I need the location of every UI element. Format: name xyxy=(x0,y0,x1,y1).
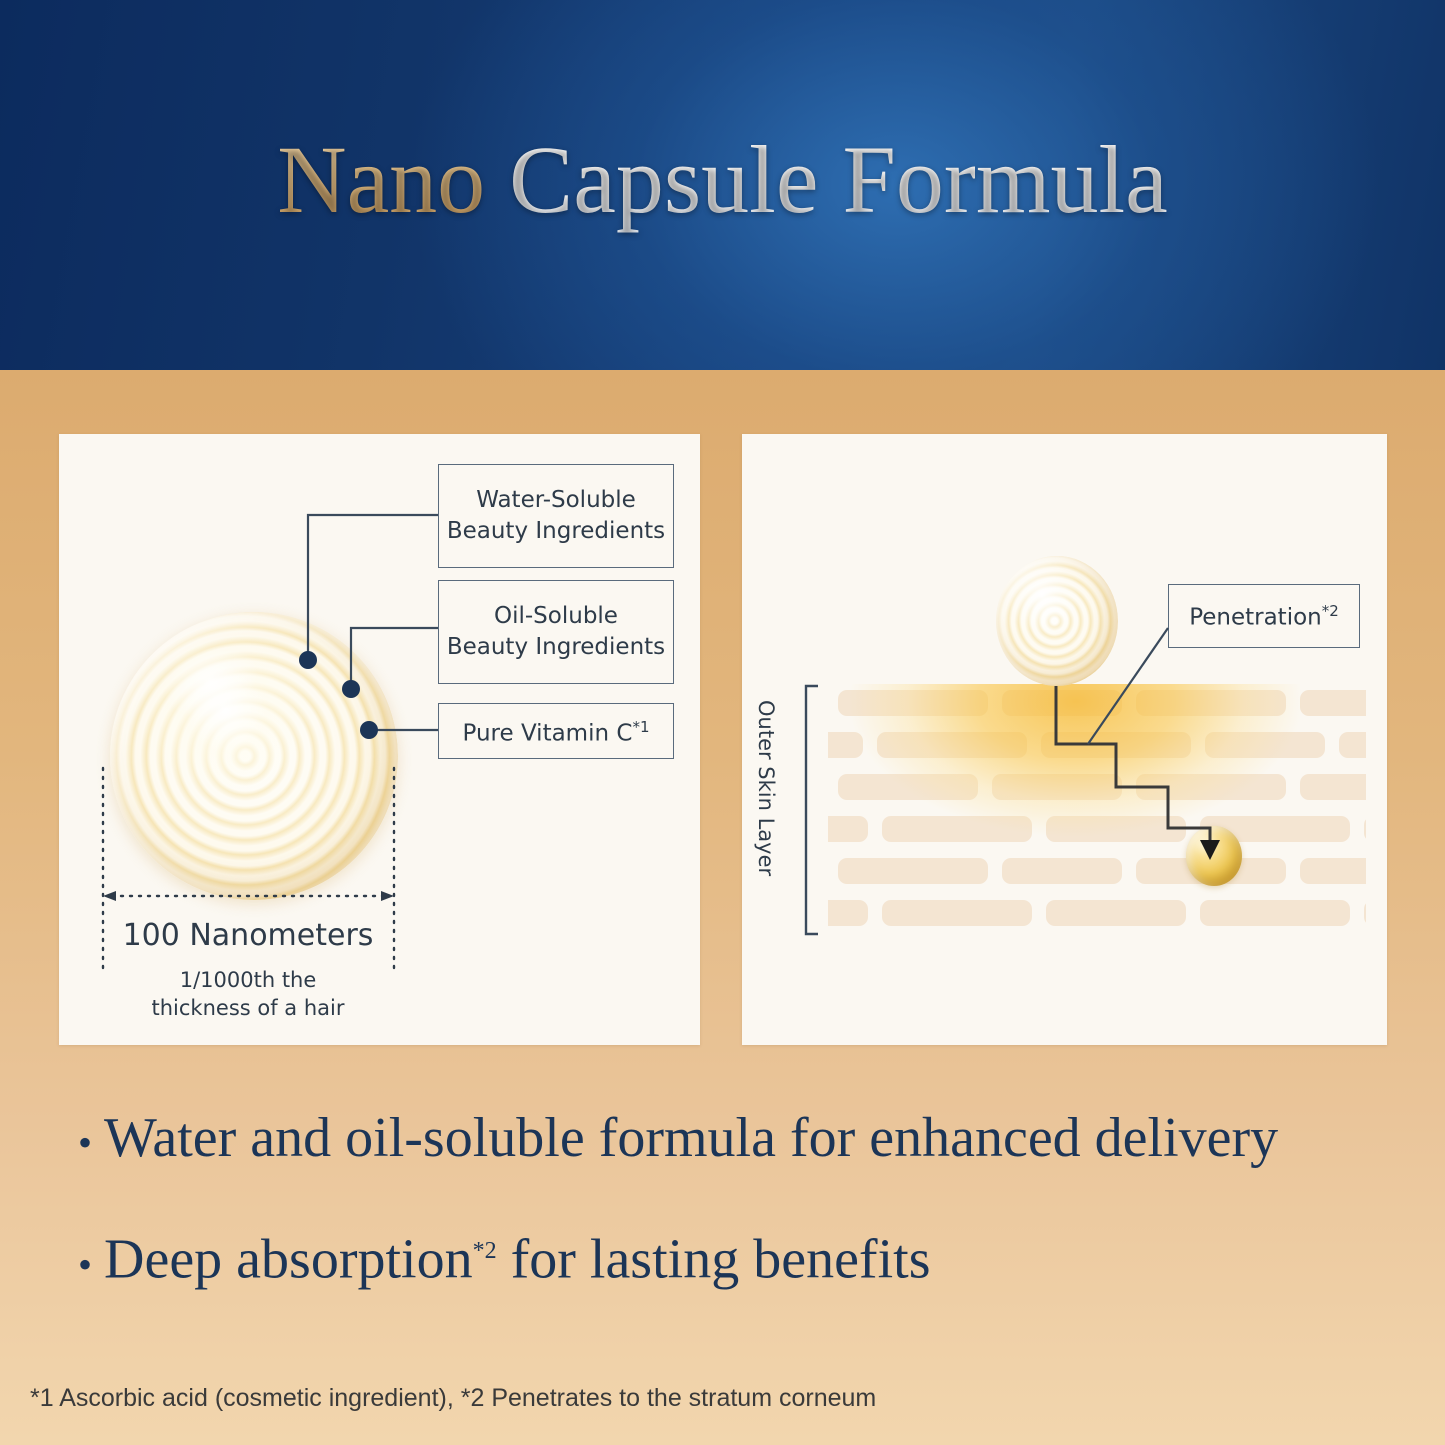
brick xyxy=(838,858,988,884)
brick xyxy=(882,816,1032,842)
brick xyxy=(1046,900,1186,926)
callout-penetration-label: Penetration xyxy=(1189,604,1322,630)
skin-layer-illustration xyxy=(828,684,1366,936)
brick xyxy=(1300,858,1366,884)
brick xyxy=(1200,900,1350,926)
callout-water-soluble: Water-Soluble Beauty Ingredients xyxy=(438,464,674,568)
benefit-item-2-text: Deep absorption xyxy=(104,1229,473,1291)
title-word-nano: Nano xyxy=(277,126,485,233)
callout-water-line1: Water-Soluble xyxy=(476,487,636,513)
brick xyxy=(1364,900,1366,926)
brick xyxy=(1002,858,1122,884)
benefit-item-1: •Water and oil-soluble formula for enhan… xyxy=(78,1105,1408,1176)
absorbed-droplet xyxy=(1186,826,1242,886)
callout-water-line2: Beauty Ingredients xyxy=(447,518,665,544)
brick xyxy=(1300,690,1366,716)
callout-penetration: Penetration*2 xyxy=(1168,584,1360,648)
callout-penetration-footnote-marker: *2 xyxy=(1322,602,1339,620)
capsule-highlight xyxy=(153,632,269,730)
title-word-capsule-formula: Capsule Formula xyxy=(509,126,1168,233)
brick xyxy=(1041,732,1191,758)
title-space xyxy=(485,126,509,233)
callout-vitc-label: Pure Vitamin C xyxy=(463,721,633,747)
measurement-sub-line2: thickness of a hair xyxy=(152,996,345,1020)
brick xyxy=(838,690,988,716)
callout-oil-line1: Oil-Soluble xyxy=(494,603,618,629)
header-banner: Nano Capsule Formula xyxy=(0,0,1445,370)
brick xyxy=(1205,732,1325,758)
nano-capsule-illustration xyxy=(110,612,398,900)
brick xyxy=(877,732,1027,758)
benefit-item-2: •Deep absorption*2 for lasting benefits xyxy=(78,1218,1408,1298)
brick xyxy=(1046,816,1186,842)
benefit-item-2-tail: for lasting benefits xyxy=(497,1229,931,1291)
brick xyxy=(1002,690,1122,716)
brick xyxy=(992,774,1122,800)
benefit-item-2-footnote-marker: *2 xyxy=(473,1238,497,1264)
bullet-dot-icon: • xyxy=(78,1120,104,1165)
brick xyxy=(828,816,868,842)
brick xyxy=(1300,774,1366,800)
outer-skin-layer-label: Outer Skin Layer xyxy=(754,700,778,920)
brick xyxy=(828,732,863,758)
brick xyxy=(1136,690,1286,716)
brick xyxy=(838,774,978,800)
brick xyxy=(1339,732,1366,758)
callout-oil-soluble: Oil-Soluble Beauty Ingredients xyxy=(438,580,674,684)
brick xyxy=(882,900,1032,926)
measurement-sublabel: 1/1000th the thickness of a hair xyxy=(98,966,398,1022)
benefits-list: •Water and oil-soluble formula for enhan… xyxy=(78,1105,1408,1340)
bullet-dot-icon: • xyxy=(78,1242,104,1287)
measurement-sub-line1: 1/1000th the xyxy=(180,968,317,992)
nano-capsule-small xyxy=(996,556,1118,686)
brick xyxy=(1136,774,1286,800)
callout-vitc-footnote-marker: *1 xyxy=(632,718,649,736)
brick xyxy=(1364,816,1366,842)
benefit-item-1-text: Water and oil-soluble formula for enhanc… xyxy=(104,1107,1278,1169)
callout-oil-line2: Beauty Ingredients xyxy=(447,634,665,660)
absorption-glow xyxy=(828,684,1355,936)
brick xyxy=(828,900,868,926)
callout-pure-vitamin-c: Pure Vitamin C*1 xyxy=(438,703,674,759)
footnote-text: *1 Ascorbic acid (cosmetic ingredient), … xyxy=(30,1384,876,1413)
infographic-page: Nano Capsule Formula Water-Soluble Beaut… xyxy=(0,0,1445,1445)
page-title: Nano Capsule Formula xyxy=(0,128,1445,232)
measurement-label: 100 Nanometers xyxy=(98,918,398,953)
